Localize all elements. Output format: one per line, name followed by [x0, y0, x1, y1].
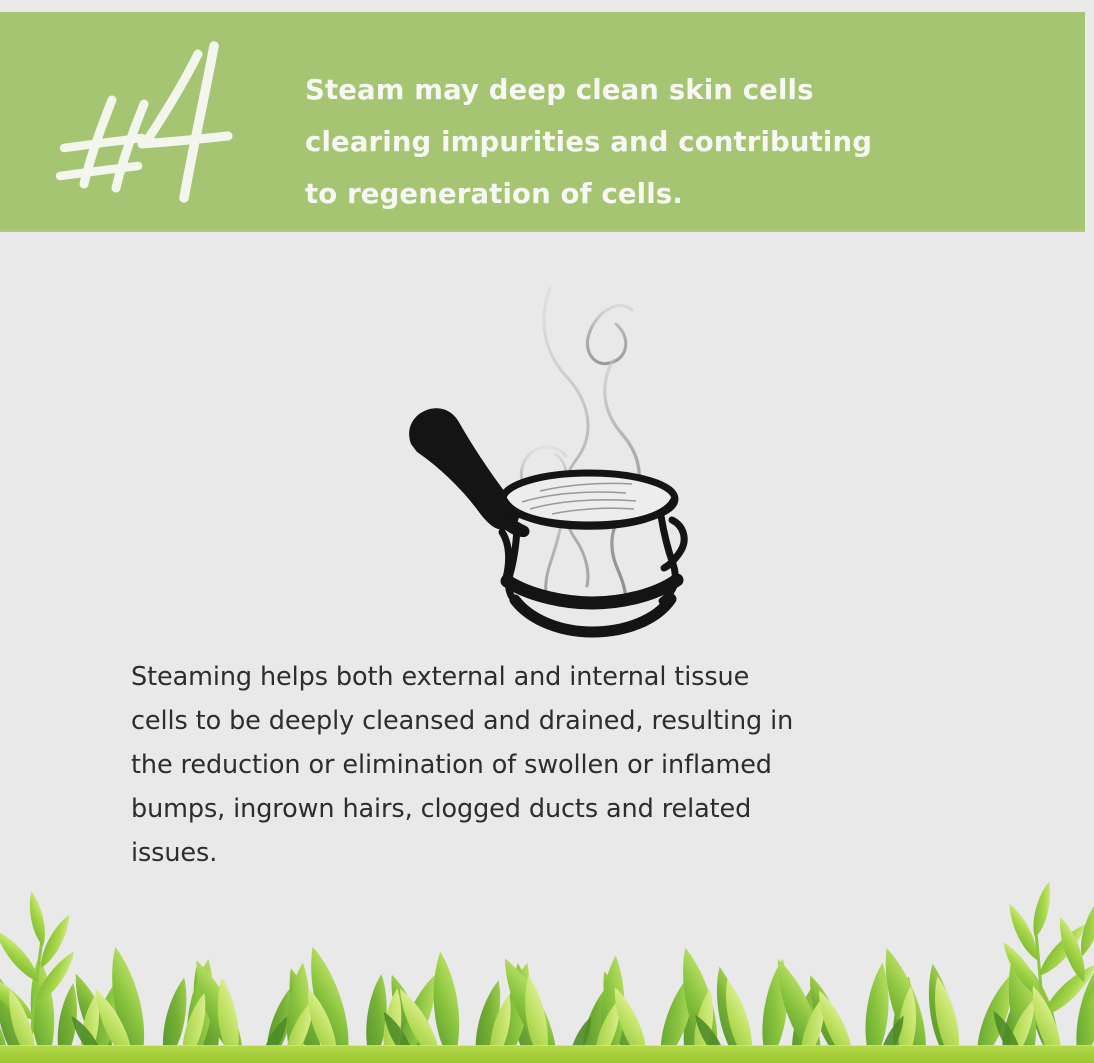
- steaming-saucepan-icon: [380, 248, 720, 638]
- leaf-sprigs-corners: [0, 880, 1094, 1060]
- header-band: Steam may deep clean skin cells clearing…: [0, 12, 1085, 232]
- ground-strip: [0, 1046, 1094, 1063]
- steam-wisp-mid: [544, 288, 588, 586]
- hash-number-icon: [38, 38, 268, 213]
- headline-line-2: clearing impurities and contributing: [305, 116, 1035, 168]
- infographic-card: Steam may deep clean skin cells clearing…: [0, 0, 1094, 1063]
- body-line-1: Steaming helps both external and interna…: [131, 655, 981, 699]
- steam-wisp-rear: [587, 306, 639, 604]
- body-line-2: cells to be deeply cleansed and drained,…: [131, 699, 981, 743]
- body-line-3: the reduction or elimination of swollen …: [131, 743, 981, 787]
- saucepan-body: [502, 473, 684, 632]
- body-line-4: bumps, ingrown hairs, clogged ducts and …: [131, 787, 981, 831]
- top-margin-strip: [0, 0, 1094, 12]
- header-right-margin: [1085, 12, 1094, 232]
- headline-line-1: Steam may deep clean skin cells: [305, 64, 1035, 116]
- headline-line-3: to regeneration of cells.: [305, 168, 1035, 220]
- body-paragraph: Steaming helps both external and interna…: [131, 655, 981, 875]
- body-line-5: issues.: [131, 831, 981, 875]
- saucepan-handle: [409, 408, 529, 537]
- headline: Steam may deep clean skin cells clearing…: [305, 64, 1035, 220]
